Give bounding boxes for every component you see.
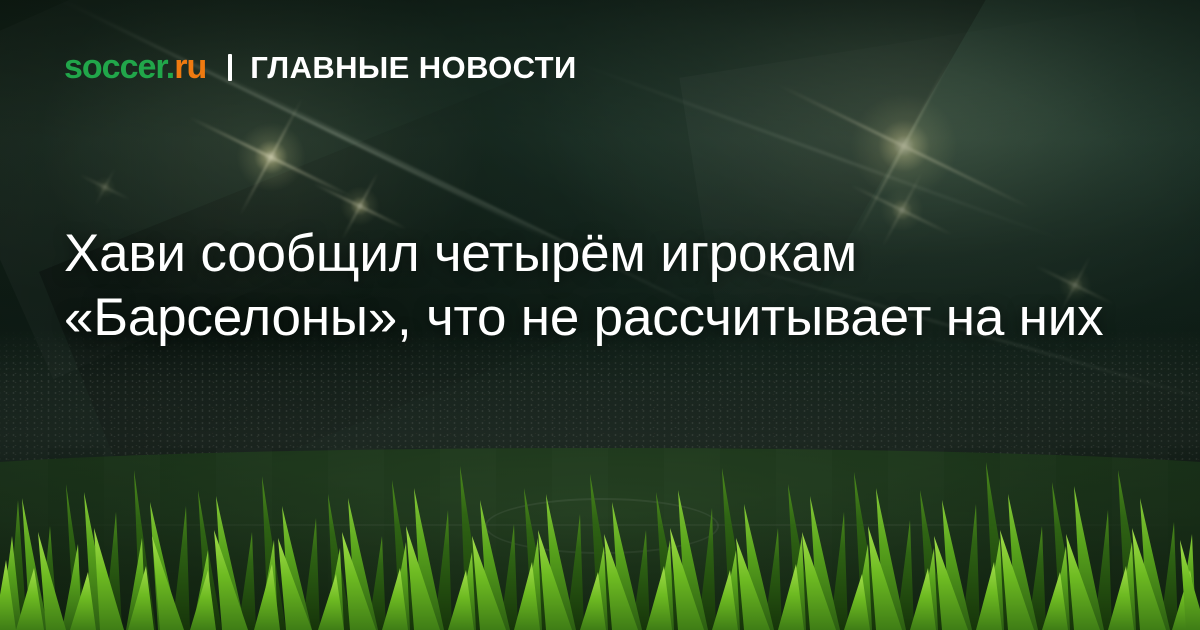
floodlight-flare-icon [94,176,116,198]
foreground-grass [0,440,1200,630]
light-streak [575,61,1065,242]
soccer-ru-logo[interactable]: soccer.ru [64,50,206,84]
card-header: soccer.ru ГЛАВНЫЕ НОВОСТИ [64,50,577,84]
header-divider-icon [228,54,232,81]
floodlight-flare-icon [850,92,958,200]
floodlight-flare-icon [236,122,306,192]
section-label: ГЛАВНЫЕ НОВОСТИ [250,52,576,83]
page-title: Хави сообщил четырём игрокам «Барселоны»… [64,222,1124,350]
logo-dot: . [166,48,174,86]
floodlight-flare-icon [340,186,380,226]
light-streak [58,0,563,246]
og-news-card: soccer.ru ГЛАВНЫЕ НОВОСТИ Хави сообщил ч… [0,0,1200,630]
logo-tld: ru [174,48,206,86]
logo-word: soccer [64,48,166,86]
